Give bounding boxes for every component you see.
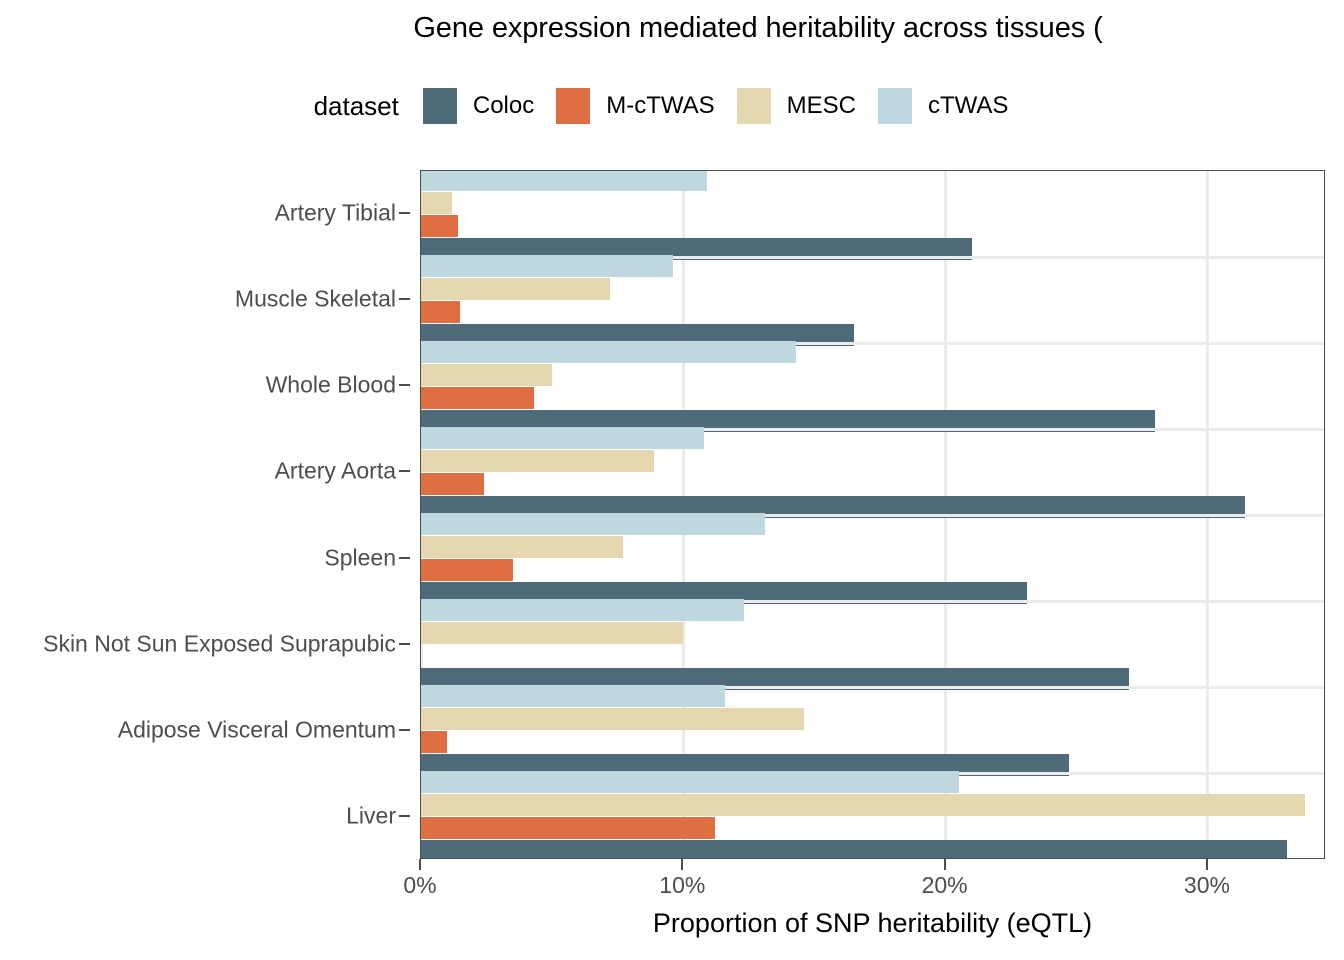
bar [421,794,1305,816]
bar [421,708,804,730]
chart-title-text: Gene expression mediated heritability ac… [413,12,1102,45]
y-axis-label: Muscle Skeletal [235,286,396,313]
y-axis-label: Adipose Visceral Omentum [118,716,396,743]
legend-item-label: M-cTWAS [606,92,714,120]
legend-item-label: Coloc [473,92,534,120]
bar-chart: Gene expression mediated heritability ac… [0,0,1344,960]
bar [421,622,683,644]
bar [421,427,704,449]
legend-title: dataset [314,91,399,122]
x-axis-tick [419,859,421,870]
x-axis-tick-label: 20% [922,872,968,899]
x-axis-tick-label: 10% [659,872,705,899]
bar [421,599,744,621]
bar [421,170,707,191]
y-axis-tick [399,212,410,214]
y-axis-label: Skin Not Sun Exposed Suprapubic [43,630,396,657]
y-axis-label: Artery Aorta [275,458,396,485]
y-axis-label: Spleen [324,544,396,571]
y-axis-tick [399,384,410,386]
bar [421,840,1287,859]
legend-swatch-icon [737,88,771,124]
y-axis: Artery TibialMuscle SkeletalWhole BloodA… [0,170,410,859]
chart-title: Gene expression mediated heritability ac… [0,12,1344,45]
y-axis-tick [399,470,410,472]
y-axis-tick [399,643,410,645]
legend-swatch-icon [423,88,457,124]
legend-item-label: cTWAS [928,92,1008,120]
bar [421,685,725,707]
x-axis-tick-labels: 0%10%20%30% [420,872,1325,904]
y-axis-label: Artery Tibial [275,200,396,227]
y-axis-tick [399,557,410,559]
bar [421,473,484,495]
y-axis-tick [399,729,410,731]
x-axis-tick [1206,859,1208,870]
bar [421,301,460,323]
bar [421,255,673,277]
bar [421,341,796,363]
plot-panel [420,170,1325,859]
y-axis-label: Liver [346,802,396,829]
x-axis-tick [681,859,683,870]
bar [421,192,452,214]
x-axis-tick-label: 0% [403,872,436,899]
legend-item-label: MESC [787,92,856,120]
y-axis-label: Whole Blood [266,372,396,399]
bar [421,536,623,558]
bar [421,771,959,793]
bar [421,450,654,472]
y-axis-tick [399,298,410,300]
legend-item-ctwas[interactable]: cTWAS [878,88,1030,124]
x-axis-title: Proportion of SNP heritability (eQTL) [420,908,1325,939]
bar [421,215,458,237]
legend-item-m-ctwas[interactable]: M-cTWAS [556,88,736,124]
x-axis-tick-label: 30% [1184,872,1230,899]
legend-item-coloc[interactable]: Coloc [423,88,556,124]
bar [421,278,610,300]
legend-swatch-icon [878,88,912,124]
chart-legend: dataset ColocM-cTWASMESCcTWAS [0,88,1344,124]
bar [421,513,765,535]
bar [421,559,513,581]
bar [421,387,534,409]
y-axis-tick [399,815,410,817]
legend-item-mesc[interactable]: MESC [737,88,878,124]
bar [421,731,447,753]
x-axis-tick [944,859,946,870]
bar [421,364,552,386]
x-axis-ticks [420,859,1325,871]
legend-swatch-icon [556,88,590,124]
bar [421,817,715,839]
